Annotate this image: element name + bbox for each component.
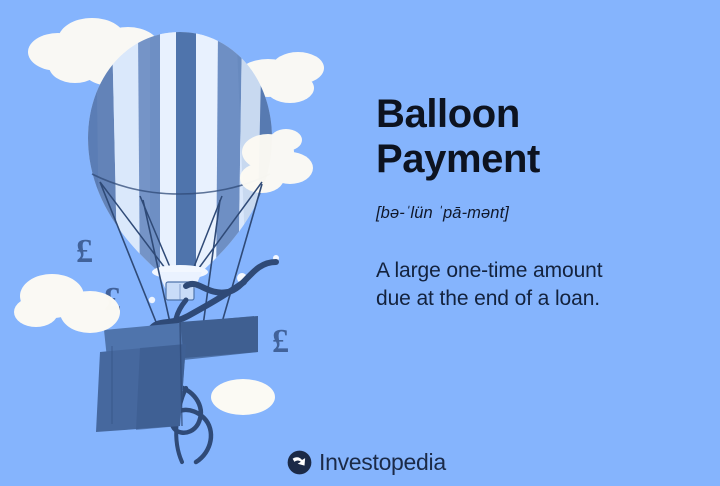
investopedia-wordmark: Investopedia — [319, 451, 446, 474]
definition-text-panel: Balloon Payment [bə-ˈlün ˈpā-mənt] A lar… — [376, 92, 710, 313]
currency-symbol-pound: £ — [76, 233, 93, 270]
definition-card: £ £ £ Balloon Payment [bə-ˈlün ˈpā-mənt]… — [0, 0, 720, 486]
investopedia-logo: Investopedia — [287, 450, 446, 475]
cloud-bottom-right — [211, 379, 275, 415]
term-title-line-1: Balloon — [376, 92, 520, 136]
term-title-line-2: Payment — [376, 137, 540, 181]
investopedia-mark-icon — [287, 450, 312, 475]
page-title: Balloon Payment — [376, 92, 710, 182]
balloon-illustration: £ £ £ — [0, 0, 360, 486]
definition-line-2: due at the end of a loan. — [376, 287, 600, 310]
line-bead — [149, 297, 155, 303]
definition-line-1: A large one-time amount — [376, 259, 603, 282]
pronunciation-text: [bə-ˈlün ˈpā-mənt] — [376, 204, 710, 223]
definition-text: A large one-time amount due at the end o… — [376, 257, 710, 313]
currency-symbol-pound: £ — [272, 323, 289, 360]
